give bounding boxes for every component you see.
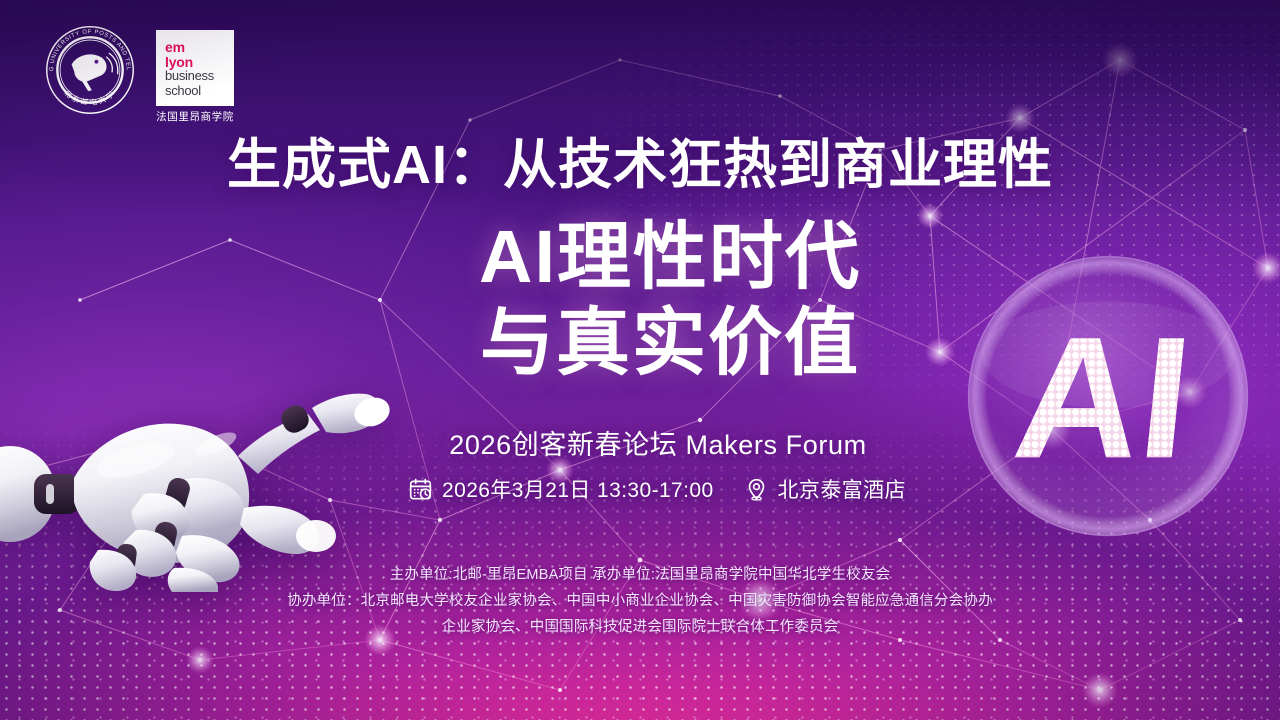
organizers-footer: 主办单位:北邮-里昂EMBA项目 承办单位:法国里昂商学院中国华北学生校友会 协… [0,562,1280,640]
organizer-line-1: 主办单位:北邮-里昂EMBA项目 承办单位:法国里昂商学院中国华北学生校友会 [0,562,1280,588]
organizer-line-2: 协办单位：北京邮电大学校友企业家协会、中国中小商业企业协会、中国灾害防御协会智能… [0,588,1280,614]
event-poster: AI [0,0,1280,720]
calendar-clock-icon [408,477,433,502]
event-datetime: 2026年3月21日 13:30-17:00 [408,474,713,504]
location-pin-icon [744,477,769,502]
event-datetime-text: 2026年3月21日 13:30-17:00 [442,474,713,504]
event-location: 北京泰富酒店 [744,474,906,504]
organizer-line-3: 企业家协会、中国国际科技促进会国际院士联合体工作委员会 [0,614,1280,640]
headline-line-1: AI理性时代 [60,214,1280,300]
event-location-text: 北京泰富酒店 [778,474,906,504]
page-title: 生成式AI：从技术狂热到商业理性 [0,136,1280,194]
headline-line-2: 与真实价值 [60,300,1280,386]
headline-block: AI理性时代 与真实价值 [0,214,1280,386]
event-subtitle: 2026创客新春论坛 Makers Forum [0,423,1280,462]
event-meta-row: 2026年3月21日 13:30-17:00 北京泰富酒店 [0,474,1280,504]
poster-content: 生成式AI：从技术狂热到商业理性 AI理性时代 与真实价值 2026创客新春论坛… [0,0,1280,720]
